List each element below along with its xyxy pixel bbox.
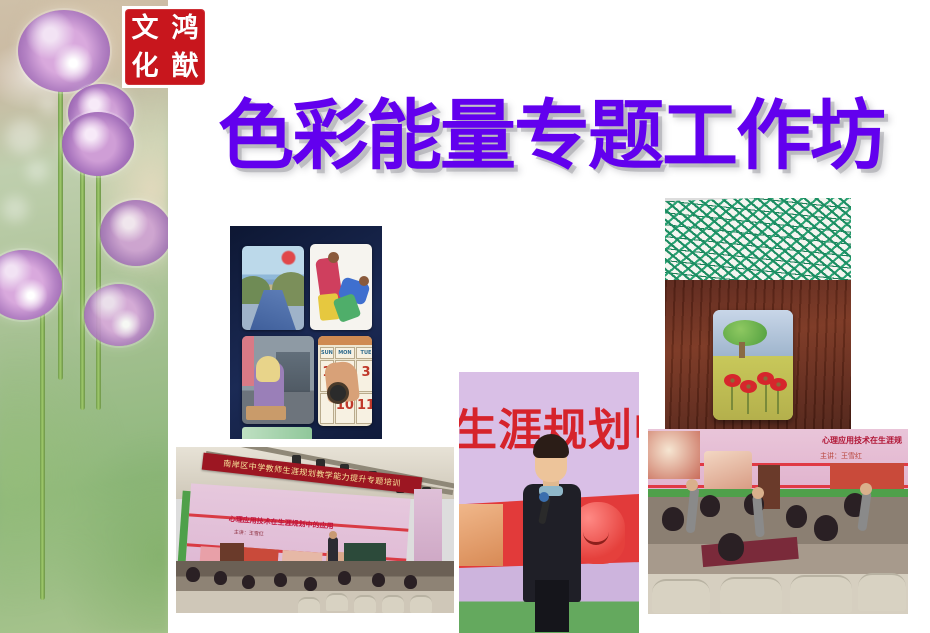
hall-speaker-head xyxy=(329,531,337,539)
calendar-header-bar xyxy=(318,336,372,345)
dancer-one-head xyxy=(328,252,339,263)
wenhong-huayou-seal-logo: 文 鸿 化 猷 xyxy=(122,6,208,88)
red-seal-stamp: 文 鸿 化 猷 xyxy=(125,9,205,85)
audience-head xyxy=(304,577,317,591)
flower-stem xyxy=(731,384,733,410)
figure-hair xyxy=(256,356,280,382)
calendar-cell: MON xyxy=(335,347,355,359)
audience-screen-subtitle: 主讲：王雪红 xyxy=(820,451,862,461)
audience-chair xyxy=(298,597,320,613)
flower-stem xyxy=(40,300,45,600)
audience-head xyxy=(214,571,227,585)
audience-screen-title: 心理应用技术在生涯规 xyxy=(822,435,902,446)
calendar-cell: TUE xyxy=(356,347,372,359)
dog-photo-inset xyxy=(648,431,700,479)
dancer-two-head xyxy=(359,276,369,286)
bokeh-dot xyxy=(26,160,48,182)
baby-photo-inset xyxy=(704,451,752,491)
bench xyxy=(246,406,286,420)
card-river-landscape xyxy=(242,246,304,330)
audience-head xyxy=(186,567,200,582)
audience-head xyxy=(338,571,351,585)
poster-canvas: 文 鸿 化 猷 色彩能量专题工作坊 xyxy=(0,0,930,633)
audience-head xyxy=(242,575,255,589)
audience-head xyxy=(718,533,744,561)
raised-hand xyxy=(860,483,872,495)
speaker-with-microphone-photo: 生涯规划中 xyxy=(459,372,639,633)
audience-head xyxy=(814,515,838,541)
painted-cards-photo: SUN MON TUE 1 3 10 11 xyxy=(230,226,382,439)
bokeh-dot xyxy=(6,120,40,154)
raised-hand xyxy=(752,487,764,499)
red-flower xyxy=(770,378,787,391)
audience-head xyxy=(662,507,684,531)
card-dancers xyxy=(310,244,372,330)
audience-chair xyxy=(382,595,404,613)
seal-char-4: 猷 xyxy=(172,53,199,80)
audience-chair xyxy=(354,595,376,613)
red-flower xyxy=(740,380,757,393)
calendar-cell: SUN xyxy=(320,347,334,359)
flower-stem xyxy=(747,390,749,414)
allium-bloom xyxy=(18,10,110,92)
allium-bloom xyxy=(84,284,154,346)
raised-hand xyxy=(686,479,698,491)
page-title: 色彩能量专题工作坊 xyxy=(218,86,918,186)
seal-char-1: 文 xyxy=(132,15,159,42)
audience-chair xyxy=(410,595,432,613)
microphone-head xyxy=(539,492,549,502)
allium-bloom xyxy=(100,200,168,266)
audience-chair xyxy=(790,575,852,613)
purple-allium-flowers-image xyxy=(0,0,168,633)
pink-edge xyxy=(242,336,254,386)
audience-chair xyxy=(858,573,906,611)
card-figure-on-bench xyxy=(242,336,314,424)
audience-head xyxy=(274,573,287,587)
conference-hall-photo: 南岸区中学教师生涯规划教学能力提升专题培训 心理应用技术在生涯规划中的应用 主讲… xyxy=(176,447,454,613)
audience-head xyxy=(700,495,720,517)
hall-side-screen xyxy=(414,489,442,561)
audience-head xyxy=(404,575,417,589)
page-title-text: 色彩能量专题工作坊 xyxy=(218,98,884,174)
flower-stem xyxy=(765,382,767,412)
bokeh-dot xyxy=(2,196,28,222)
tree-trunk xyxy=(739,342,745,358)
seal-char-3: 化 xyxy=(132,53,159,80)
screen-inset-photo xyxy=(459,504,503,566)
flower-stem xyxy=(777,388,779,414)
audience-chair xyxy=(720,577,782,613)
audience-chair xyxy=(326,593,348,611)
bokeh-dot xyxy=(40,96,58,114)
flower-stem xyxy=(80,170,85,410)
tree-canopy xyxy=(723,320,767,346)
audience-head xyxy=(372,573,385,587)
speaker-legs xyxy=(535,580,569,632)
card-calendar-hand: SUN MON TUE 1 3 10 11 xyxy=(318,336,372,426)
painted-card-tree-flowers xyxy=(713,310,793,420)
hall-screen-subtitle: 主讲：王雪红 xyxy=(234,529,264,538)
flower-stem xyxy=(58,80,63,380)
red-flower xyxy=(724,374,741,387)
audience-head xyxy=(786,505,807,528)
tree-and-red-flowers-card-photo xyxy=(665,198,851,430)
seal-char-2: 鸿 xyxy=(172,15,199,42)
green-card-edge xyxy=(242,427,312,439)
allium-bloom xyxy=(62,112,134,176)
audience-raising-hands-photo: 心理应用技术在生涯规 主讲：王雪红 xyxy=(648,429,908,614)
audience-chair xyxy=(652,579,710,613)
wristwatch xyxy=(327,382,349,404)
flower-stem xyxy=(96,160,101,410)
